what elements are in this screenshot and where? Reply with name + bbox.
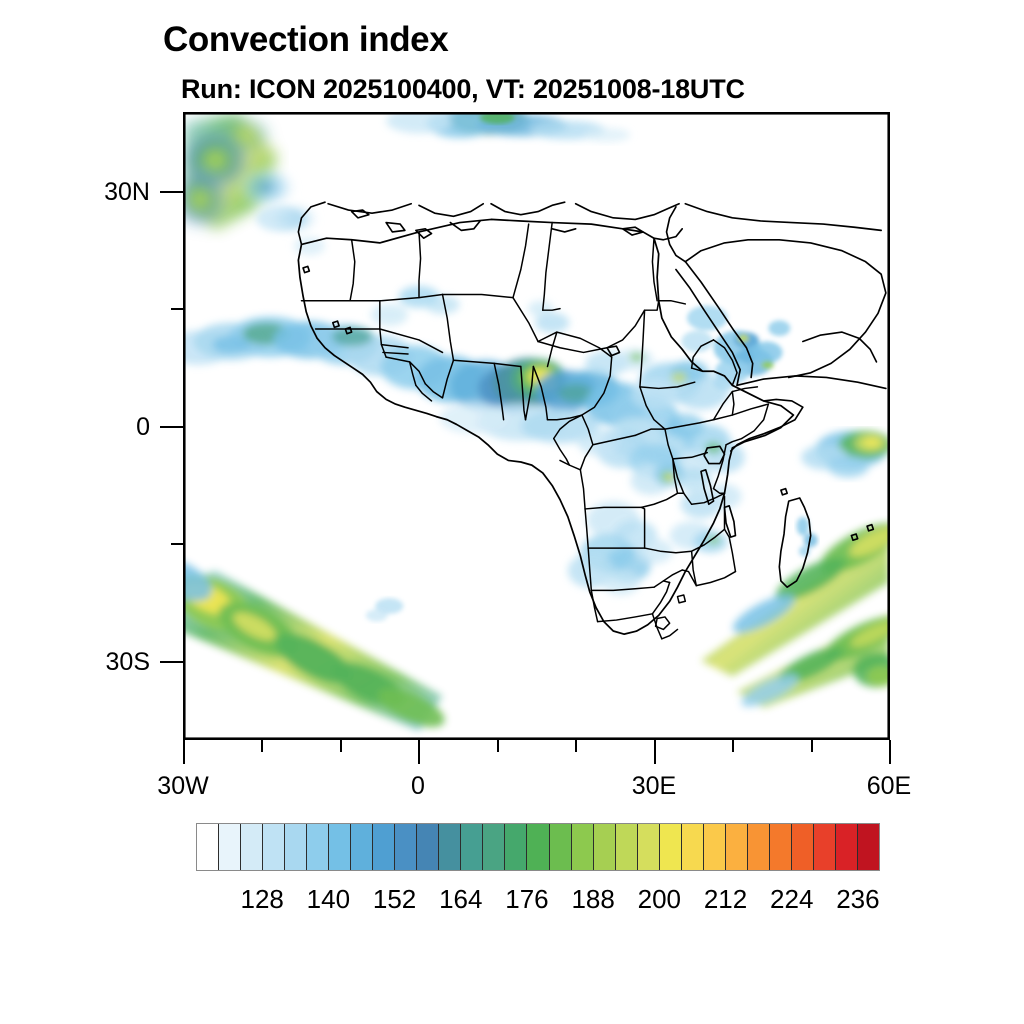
colorbar-cell bbox=[351, 824, 373, 870]
colorbar-cell bbox=[660, 824, 682, 870]
chart-page: Convection index Run: ICON 2025100400, V… bbox=[0, 0, 1024, 1024]
colorbar-tick-label: 236 bbox=[818, 884, 898, 915]
xtick-minor-10w bbox=[340, 740, 342, 752]
xtick-minor-40e bbox=[732, 740, 734, 752]
xtick-minor-20e bbox=[575, 740, 577, 752]
page-title: Convection index bbox=[163, 20, 448, 60]
colorbar-cell bbox=[638, 824, 660, 870]
colorbar-cell bbox=[572, 824, 594, 870]
colorbar-cell bbox=[329, 824, 351, 870]
colorbar-cell bbox=[682, 824, 704, 870]
colorbar-cell bbox=[704, 824, 726, 870]
xtick-label-60e: 60E bbox=[819, 772, 959, 801]
colorbar-cell bbox=[836, 824, 858, 870]
xtick-minor-20w bbox=[261, 740, 263, 752]
colorbar-cell bbox=[594, 824, 616, 870]
colorbar-cell bbox=[814, 824, 836, 870]
colorbar-cell bbox=[792, 824, 814, 870]
ytick-major-30n bbox=[160, 191, 183, 193]
xtick-minor-50e bbox=[811, 740, 813, 752]
africa-convection-map bbox=[184, 113, 889, 739]
colorbar-cell bbox=[395, 824, 417, 870]
colorbar-cell bbox=[748, 824, 770, 870]
colorbar-cell bbox=[417, 824, 439, 870]
ytick-minor-15n bbox=[171, 308, 183, 310]
ytick-label-30n: 30N bbox=[40, 178, 150, 207]
colorbar-cell bbox=[505, 824, 527, 870]
colorbar-cells bbox=[196, 823, 880, 871]
ytick-label-0: 0 bbox=[40, 413, 150, 442]
ytick-major-30s bbox=[160, 661, 183, 663]
xtick-major-60e bbox=[889, 740, 891, 764]
chart-subtitle: Run: ICON 2025100400, VT: 20251008-18UTC bbox=[181, 74, 745, 105]
ytick-major-0 bbox=[160, 426, 183, 428]
xtick-major-0 bbox=[418, 740, 420, 764]
colorbar-cell bbox=[285, 824, 307, 870]
xtick-label-0: 0 bbox=[348, 772, 488, 801]
colorbar-cell bbox=[439, 824, 461, 870]
colorbar-cell bbox=[219, 824, 241, 870]
colorbar-cell bbox=[616, 824, 638, 870]
colorbar-cell bbox=[461, 824, 483, 870]
xtick-major-30e bbox=[654, 740, 656, 764]
map-plot-area bbox=[183, 112, 890, 740]
colorbar-cell bbox=[241, 824, 263, 870]
ytick-minor-15s bbox=[171, 543, 183, 545]
colorbar-cell bbox=[263, 824, 285, 870]
xtick-major-30w bbox=[183, 740, 185, 764]
colorbar-cell bbox=[373, 824, 395, 870]
ytick-label-30s: 30S bbox=[40, 648, 150, 677]
xtick-minor-10e bbox=[497, 740, 499, 752]
xtick-label-30w: 30W bbox=[113, 772, 253, 801]
xtick-label-30e: 30E bbox=[584, 772, 724, 801]
colorbar-cell bbox=[770, 824, 792, 870]
colorbar-cell bbox=[858, 824, 879, 870]
colorbar-cell bbox=[726, 824, 748, 870]
colorbar-cell bbox=[483, 824, 505, 870]
colorbar bbox=[196, 823, 880, 871]
colorbar-cell bbox=[197, 824, 219, 870]
colorbar-cell bbox=[527, 824, 549, 870]
colorbar-cell bbox=[307, 824, 329, 870]
colorbar-cell bbox=[550, 824, 572, 870]
